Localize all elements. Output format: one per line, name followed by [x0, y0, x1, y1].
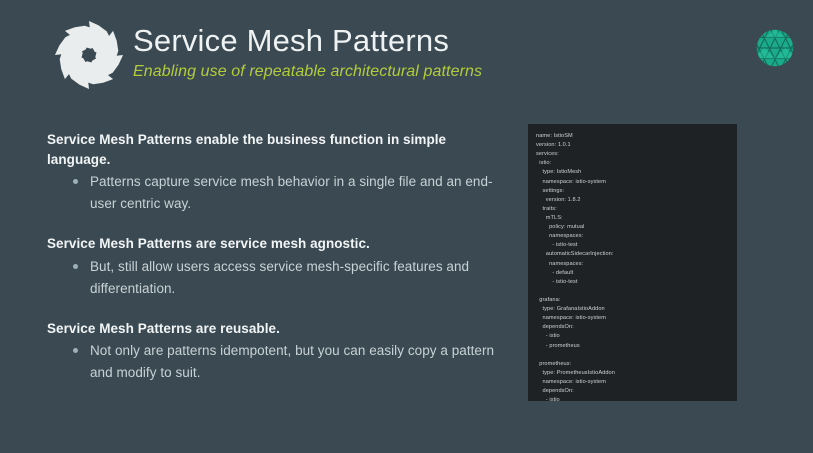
yaml-code-text: name: IstioSM version: 1.0.1 services: i… — [528, 124, 737, 401]
statement-heading: Service Mesh Patterns are reusable. — [47, 319, 502, 339]
mesh-sphere-icon — [751, 24, 799, 72]
bullet-text: But, still allow users access service me… — [90, 259, 469, 296]
statement-heading: Service Mesh Patterns enable the busines… — [47, 130, 502, 169]
bullet-list: Patterns capture service mesh behavior i… — [47, 171, 502, 215]
statement-heading: Service Mesh Patterns are service mesh a… — [47, 234, 502, 254]
bullet-list: But, still allow users access service me… — [47, 256, 502, 300]
pinwheel-star-logo — [52, 18, 126, 92]
title-block: Service Mesh Patterns Enabling use of re… — [133, 24, 693, 81]
list-item: Not only are patterns idempotent, but yo… — [47, 340, 502, 384]
statement-group: Service Mesh Patterns are service mesh a… — [47, 234, 502, 299]
yaml-code-panel: name: IstioSM version: 1.0.1 services: i… — [528, 124, 737, 401]
list-item: Patterns capture service mesh behavior i… — [47, 171, 502, 215]
bullet-text: Not only are patterns idempotent, but yo… — [90, 343, 494, 380]
page-title: Service Mesh Patterns — [133, 24, 693, 59]
list-item: But, still allow users access service me… — [47, 256, 502, 300]
bullet-dot-icon — [73, 264, 78, 269]
content-column: Service Mesh Patterns enable the busines… — [47, 130, 502, 384]
slide-canvas: Service Mesh Patterns Enabling use of re… — [0, 0, 813, 453]
page-subtitle: Enabling use of repeatable architectural… — [133, 62, 693, 81]
statement-group: Service Mesh Patterns are reusable. Not … — [47, 319, 502, 384]
bullet-text: Patterns capture service mesh behavior i… — [90, 174, 493, 211]
bullet-list: Not only are patterns idempotent, but yo… — [47, 340, 502, 384]
bullet-dot-icon — [73, 179, 78, 184]
statement-group: Service Mesh Patterns enable the busines… — [47, 130, 502, 215]
bullet-dot-icon — [73, 348, 78, 353]
slide-header: Service Mesh Patterns Enabling use of re… — [0, 0, 813, 100]
